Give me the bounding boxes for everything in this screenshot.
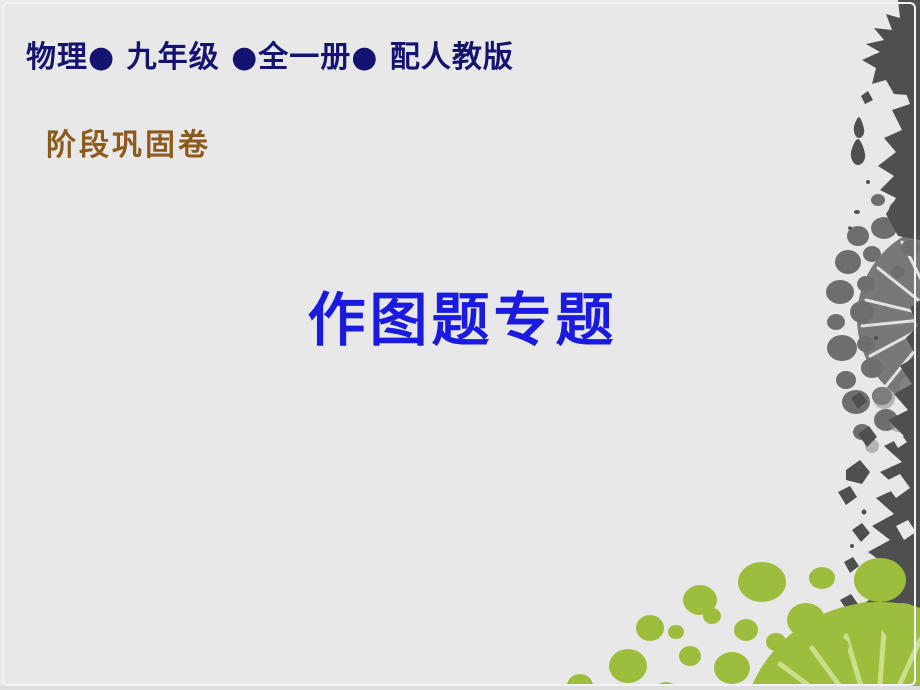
slide-main-title-text: 作图题专题: [307, 287, 617, 354]
presentation-slide: 物理● 九年级 ●全一册● 配人教版 阶段巩固卷 作图题专题: [0, 0, 920, 690]
slide-header-text: 物理● 九年级 ●全一册● 配人教版: [26, 41, 514, 74]
slide-subtitle-text: 阶段巩固卷: [46, 129, 211, 162]
slide-main-title: 作图题专题: [0, 287, 920, 354]
bottom-edge-tint: [0, 686, 920, 690]
